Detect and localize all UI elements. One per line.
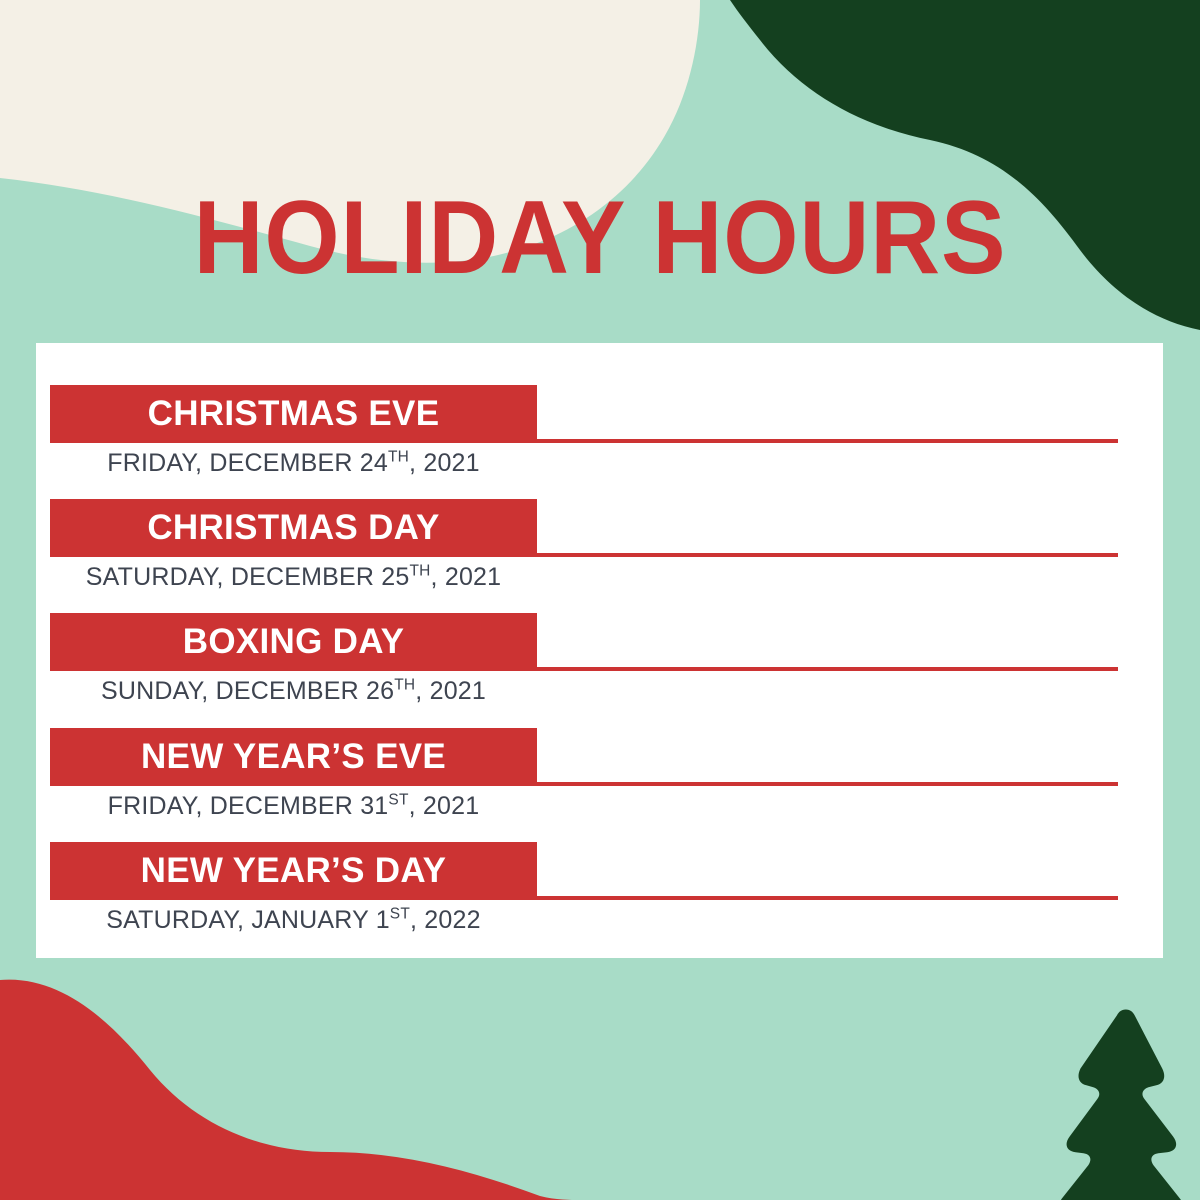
date-weekday: FRIDAY, [108, 792, 210, 820]
date-month: DECEMBER [210, 792, 360, 820]
holiday-banner: CHRISTMAS DAY [50, 499, 537, 556]
date-year: , 2021 [409, 449, 480, 477]
date-day: 1 [376, 906, 390, 934]
holiday-banner: NEW YEAR’S EVE [50, 728, 537, 785]
holiday-date: SUNDAY, DECEMBER 26TH, 2021 [50, 675, 537, 708]
holiday-banner: BOXING DAY [50, 613, 537, 670]
holiday-date: SATURDAY, JANUARY 1ST, 2022 [50, 904, 537, 937]
date-day: 26 [366, 677, 394, 705]
date-weekday: FRIDAY, [107, 449, 209, 477]
holiday-name: CHRISTMAS DAY [147, 510, 439, 545]
holiday-name: CHRISTMAS EVE [148, 396, 440, 431]
date-ordinal: TH [394, 677, 415, 694]
date-month: DECEMBER [209, 449, 359, 477]
date-month: DECEMBER [231, 563, 381, 591]
date-ordinal: TH [409, 563, 430, 580]
holiday-date: FRIDAY, DECEMBER 31ST, 2021 [50, 790, 537, 823]
date-weekday: SATURDAY, [106, 906, 251, 934]
date-ordinal: ST [390, 906, 410, 923]
holiday-hours-poster: HOLIDAY HOURS CHRISTMAS EVE FRIDAY, DECE… [0, 0, 1200, 1200]
date-weekday: SUNDAY, [101, 677, 216, 705]
date-ordinal: ST [388, 792, 408, 809]
holiday-date: FRIDAY, DECEMBER 24TH, 2021 [50, 447, 537, 480]
schedule-rows: CHRISTMAS EVE FRIDAY, DECEMBER 24TH, 202… [36, 343, 1163, 958]
holiday-name: BOXING DAY [183, 624, 404, 659]
date-year: , 2021 [409, 792, 480, 820]
date-year: , 2021 [431, 563, 502, 591]
page-title-container: HOLIDAY HOURS [0, 186, 1200, 290]
page-title: HOLIDAY HOURS [194, 186, 1007, 290]
red-wave-shape [0, 980, 580, 1200]
christmas-tree-icon [1059, 1009, 1183, 1200]
date-ordinal: TH [388, 449, 409, 466]
holiday-name: NEW YEAR’S EVE [141, 739, 446, 774]
holiday-date: SATURDAY, DECEMBER 25TH, 2021 [50, 561, 537, 594]
date-day: 24 [360, 449, 388, 477]
holiday-name: NEW YEAR’S DAY [141, 853, 447, 888]
date-month: JANUARY [251, 906, 375, 934]
date-weekday: SATURDAY, [86, 563, 231, 591]
date-year: , 2021 [415, 677, 486, 705]
holiday-banner: CHRISTMAS EVE [50, 385, 537, 442]
date-day: 25 [381, 563, 409, 591]
date-year: , 2022 [410, 906, 481, 934]
date-day: 31 [360, 792, 388, 820]
schedule-card: CHRISTMAS EVE FRIDAY, DECEMBER 24TH, 202… [36, 343, 1163, 958]
date-month: DECEMBER [216, 677, 366, 705]
holiday-banner: NEW YEAR’S DAY [50, 842, 537, 899]
